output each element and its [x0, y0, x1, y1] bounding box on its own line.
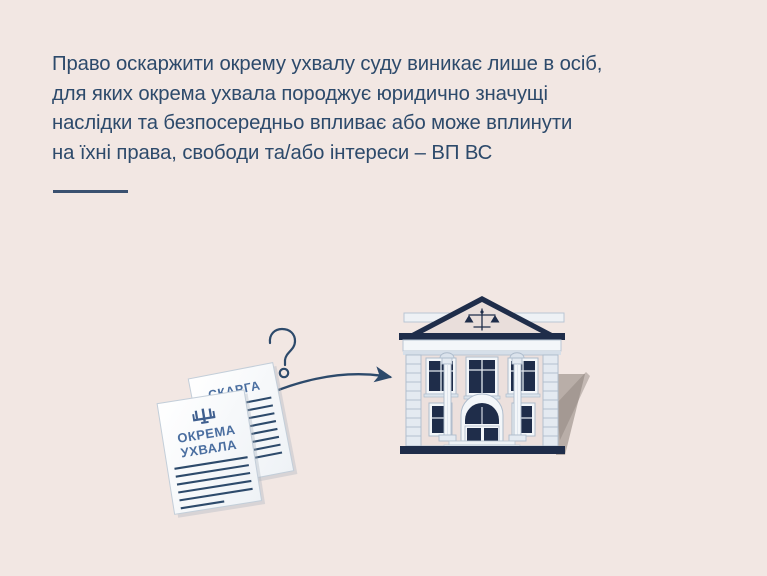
quoins-right — [543, 355, 558, 446]
window-upper-left — [424, 358, 458, 397]
courthouse — [399, 296, 565, 454]
courthouse-shadow — [556, 372, 590, 455]
quoins-left — [406, 355, 421, 446]
document-okrema-uhvala: ОКРЕМА УХВАЛА — [157, 389, 265, 518]
window-upper-right — [506, 358, 540, 397]
window-center-upper — [464, 357, 500, 399]
slide-canvas: Право оскаржити окрему ухвалу суду виник… — [0, 0, 767, 576]
illustration-group: СКАРГА — [0, 0, 767, 576]
entrance-door — [461, 394, 503, 441]
